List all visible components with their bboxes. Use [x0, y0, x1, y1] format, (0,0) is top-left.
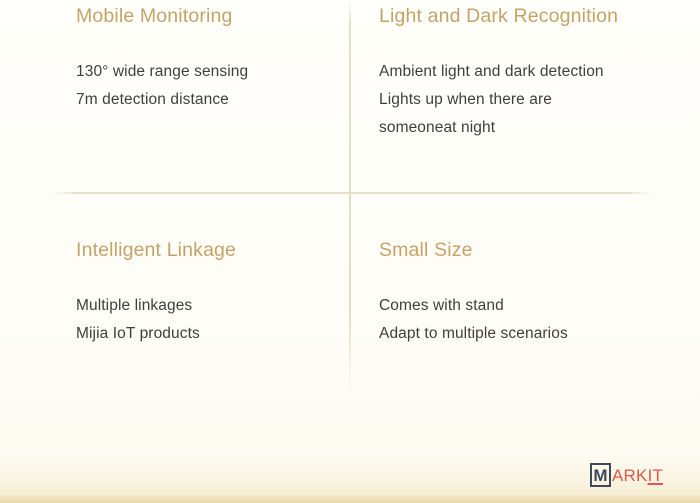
feature-card-small-size: Small Size Comes with stand Adapt to mul… [351, 194, 700, 392]
feature-title: Intelligent Linkage [76, 238, 329, 262]
feature-line: Ambient light and dark detection [379, 58, 686, 86]
feature-line-list: Multiple linkages Mijia IoT products [76, 292, 329, 348]
feature-title: Small Size [379, 238, 686, 262]
feature-card-mobile-monitoring: Mobile Monitoring 130° wide range sensin… [0, 0, 349, 192]
markit-watermark-logo: M ARK IT [590, 462, 663, 488]
feature-line: Mijia IoT products [76, 320, 329, 348]
watermark-text-underlined: IT [648, 467, 664, 484]
feature-line-list: Ambient light and dark detection Lights … [379, 58, 686, 142]
feature-line: 7m detection distance [76, 86, 329, 114]
feature-slide: Mobile Monitoring 130° wide range sensin… [0, 0, 700, 503]
feature-line: Comes with stand [379, 292, 686, 320]
feature-title: Mobile Monitoring [76, 4, 329, 28]
feature-title: Light and Dark Recognition [379, 4, 686, 28]
feature-line: 130° wide range sensing [76, 58, 329, 86]
feature-line: Adapt to multiple scenarios [379, 320, 686, 348]
watermark-wordmark: ARK IT [612, 467, 663, 484]
feature-card-intelligent-linkage: Intelligent Linkage Multiple linkages Mi… [0, 194, 349, 392]
watermark-text-plain: ARK [612, 467, 648, 484]
feature-grid: Mobile Monitoring 130° wide range sensin… [0, 0, 700, 503]
feature-line-list: 130° wide range sensing 7m detection dis… [76, 58, 329, 114]
watermark-boxed-letter: M [590, 463, 611, 487]
feature-card-light-and-dark-recognition: Light and Dark Recognition Ambient light… [351, 0, 700, 192]
feature-line: Lights up when there are [379, 86, 686, 114]
feature-line-list: Comes with stand Adapt to multiple scena… [379, 292, 686, 348]
feature-line: Multiple linkages [76, 292, 329, 320]
feature-line: someoneat night [379, 114, 686, 142]
